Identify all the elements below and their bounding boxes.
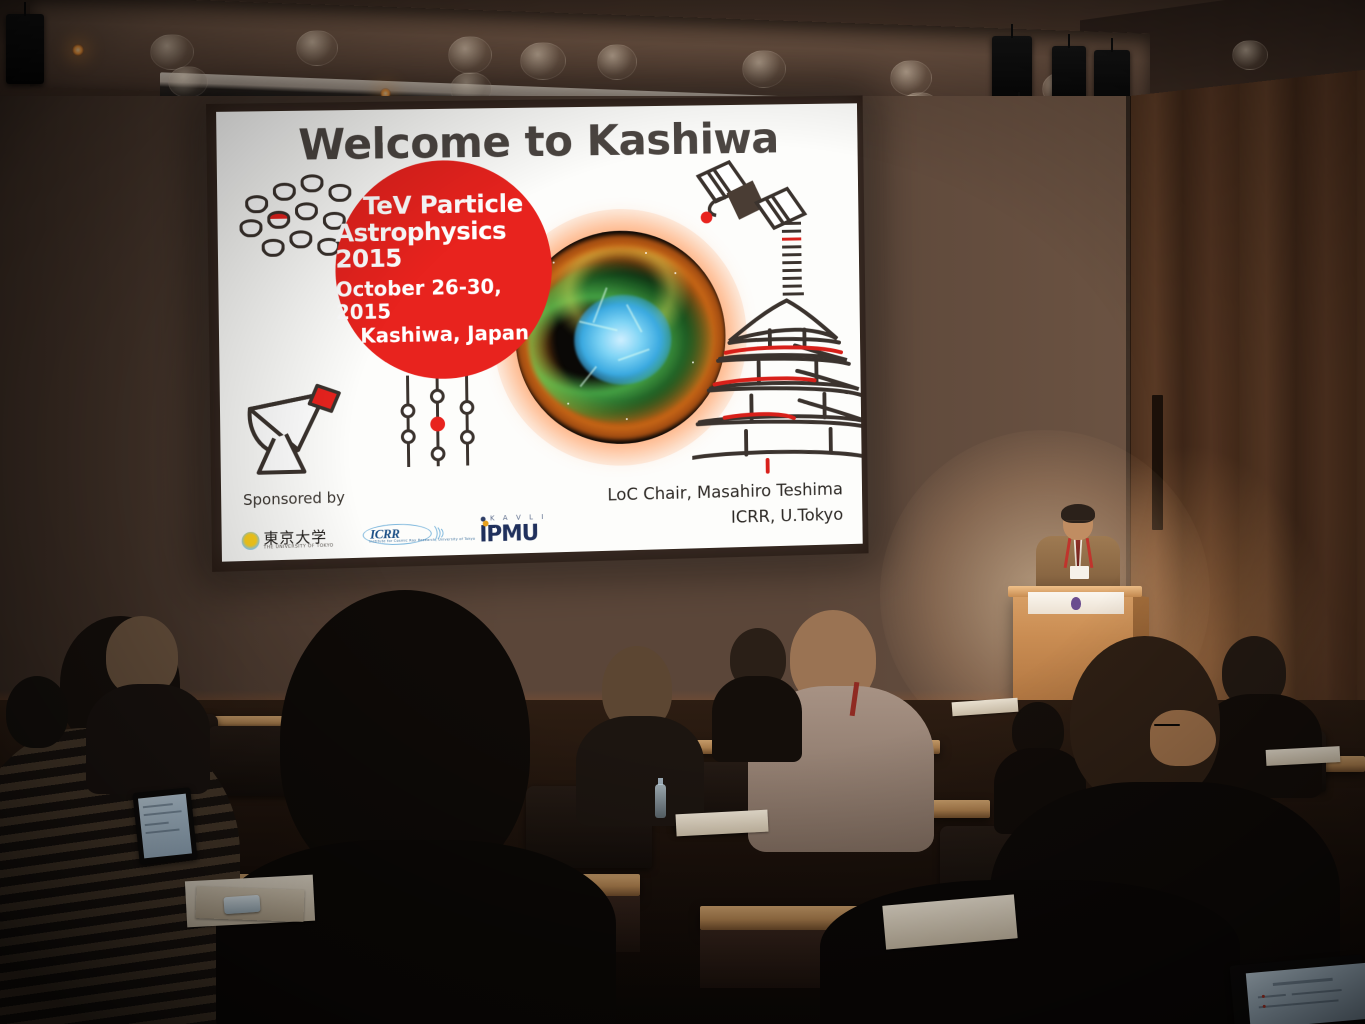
badge-line-3: October 26-30, 2015: [336, 274, 553, 325]
downlight-icon: [296, 30, 338, 66]
conference-hall-photo: Welcome to Kashiwa: [0, 0, 1365, 1024]
downlight-icon: [168, 66, 208, 98]
attendee-mid-left: [580, 646, 700, 796]
smartphone-on-desk: [223, 895, 260, 914]
downlight-icon: [520, 42, 566, 80]
kavli-ipmu-logo: K A V L I IPMU: [477, 513, 550, 545]
attendee-center-foreground: [250, 590, 580, 1024]
attendee-bottom-right: [820, 880, 1240, 1024]
attendee-far-left-edge: [0, 676, 88, 806]
attendee-torso: [576, 716, 704, 826]
downlight-icon: [742, 50, 786, 88]
speaker-name-badge: [1070, 566, 1089, 579]
utokyo-name-en: THE UNIVERSITY OF TOKYO: [264, 544, 334, 550]
neutrino-string-detector-icon: [398, 374, 488, 475]
stage-light-fixture-icon: [6, 14, 44, 84]
badge-line-2: Astrophysics 2015: [335, 217, 552, 273]
attendee-behind-bald: [712, 628, 802, 738]
attendee-glasses-icon: [1154, 724, 1180, 726]
dish-svg: [239, 367, 360, 479]
japanese-pagoda-icon: [690, 295, 863, 486]
pagoda-svg: [690, 295, 863, 486]
attendee-torso: [216, 840, 616, 1024]
speaker-figure: [1030, 506, 1126, 598]
ceiling-lamp-lit-icon: [72, 44, 84, 56]
downlight-icon: [890, 60, 932, 96]
badge-line-4: Kashiwa, Japan: [360, 321, 529, 348]
sponsored-by-label: Sponsored by: [243, 489, 345, 510]
loc-chair-affiliation: ICRR, U.Tokyo: [731, 505, 843, 528]
downlight-icon: [597, 44, 637, 80]
water-bottle: [655, 784, 666, 818]
downlight-icon: [150, 34, 194, 70]
cherenkov-telescope-dish-icon: [239, 367, 360, 479]
laptop-screen: [1246, 963, 1365, 1024]
laptop-screen: [138, 794, 192, 859]
sponsor-logos: 東京大学 THE UNIVERSITY OF TOKYO ICRR Instit…: [241, 513, 550, 551]
speaker-glasses-icon: [1066, 520, 1090, 526]
attendee-back-left: [86, 616, 216, 776]
projection-screen: Welcome to Kashiwa: [206, 95, 869, 572]
downlight-icon: [1232, 40, 1268, 70]
downlight-icon: [448, 36, 492, 74]
attendee-torso: [820, 880, 1240, 1024]
presentation-slide: Welcome to Kashiwa: [216, 103, 863, 561]
attendee-head: [6, 676, 68, 748]
icrr-logo: ICRR Institute for Cosmic Ray Research, …: [363, 520, 448, 548]
antenna-ladder-icon: [780, 222, 806, 305]
university-emblem-icon: [1071, 597, 1081, 610]
utokyo-logo: 東京大学 THE UNIVERSITY OF TOKYO: [242, 529, 334, 551]
attendee-torso: [712, 676, 802, 762]
attendee-face: [1150, 710, 1216, 766]
attendee-torso: [86, 684, 210, 794]
podium-front-plate: [1028, 592, 1124, 614]
utokyo-ginkgo-icon: [242, 532, 260, 550]
